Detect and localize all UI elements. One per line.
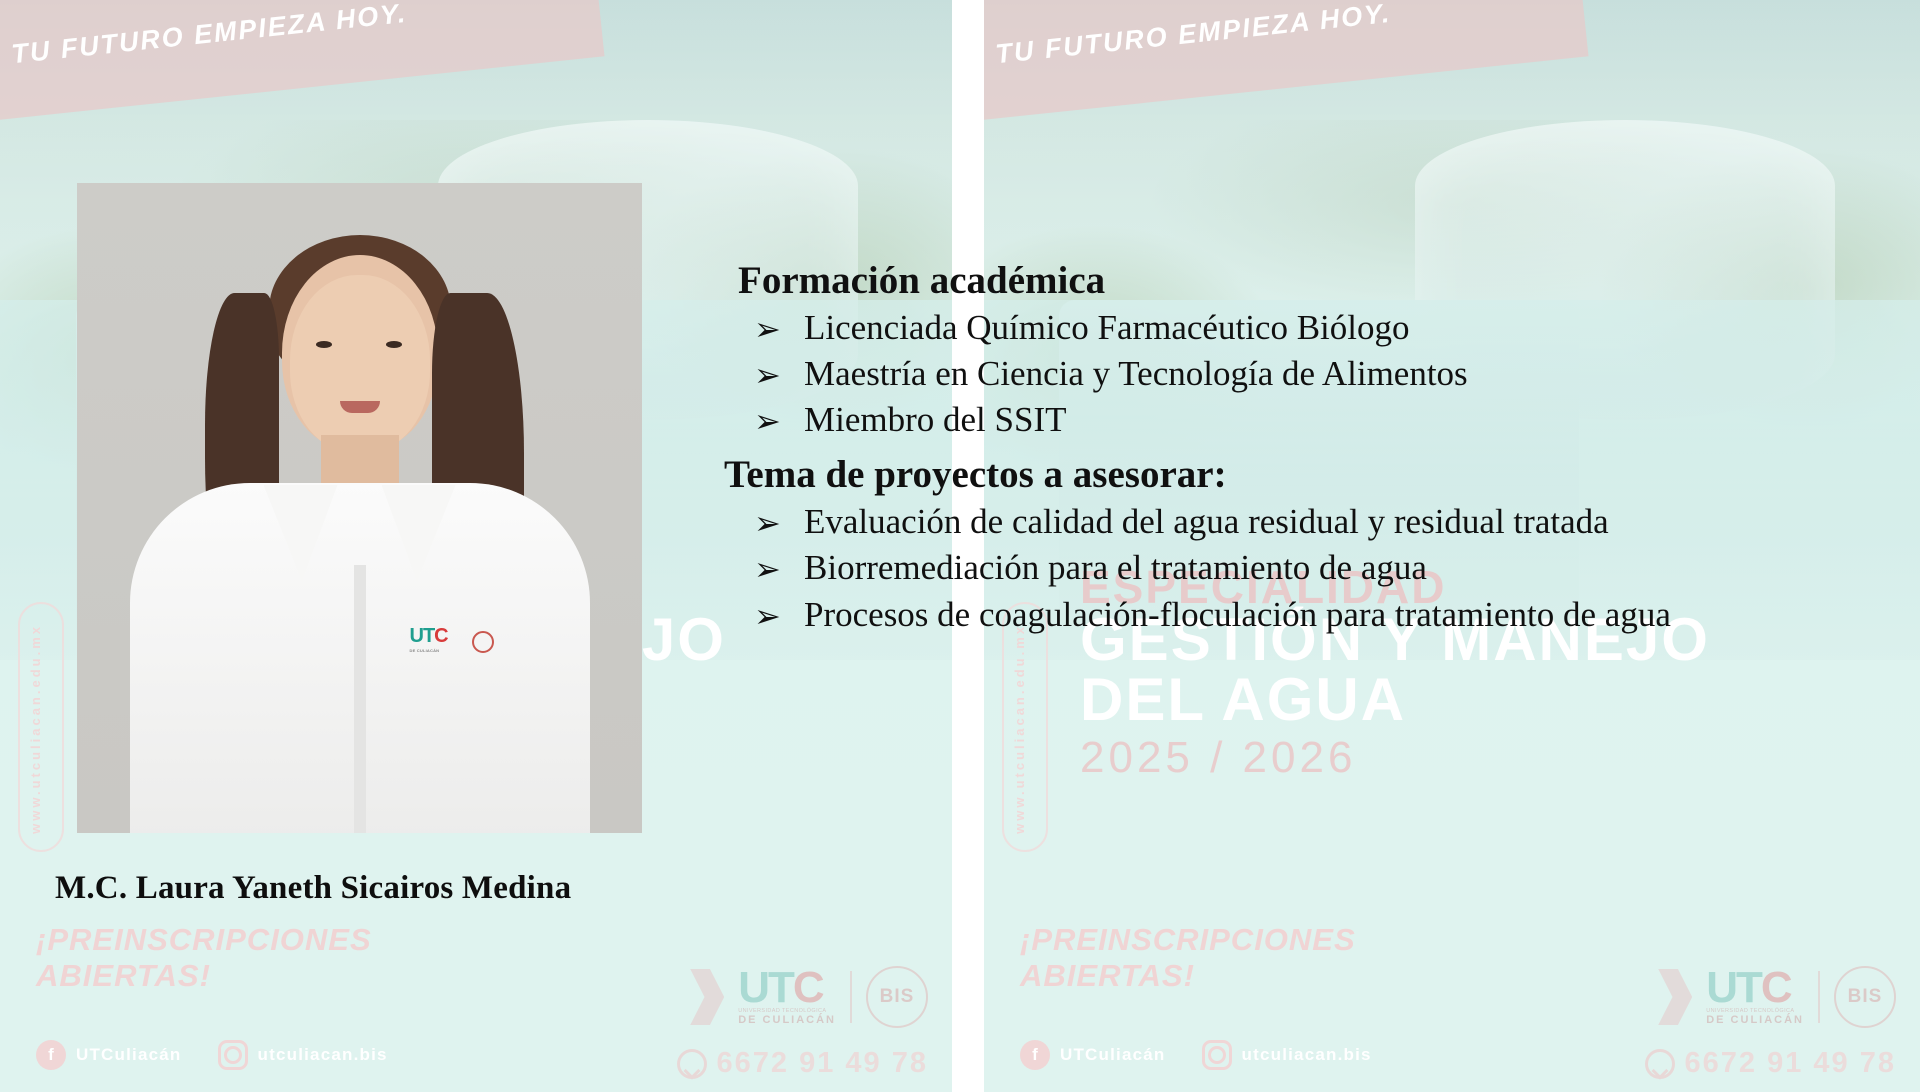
facebook-link-right[interactable]: f UTCuliacán xyxy=(1020,1040,1166,1070)
utc-subtitle: DE CULIACÁN xyxy=(738,1014,836,1026)
screenshot-stage: TU FUTURO EMPIEZA HOY. www.utculiacan.ed… xyxy=(0,0,1920,1092)
whatsapp-icon xyxy=(677,1049,707,1079)
utc-letter-c-right: C xyxy=(1761,963,1791,1012)
headline-line1-right: GESTIÓN Y MANEJO xyxy=(1080,610,1710,670)
poster-footer: ¡PREINSCRIPCIONES ABIERTAS! f UTCuliacán… xyxy=(0,912,952,1092)
utc-logo-cluster: UTC UNIVERSIDAD TECNOLÓGICA DE CULIACÁN … xyxy=(690,966,928,1028)
whatsapp-icon-right xyxy=(1645,1049,1675,1079)
utc-letters-right: UTC xyxy=(1706,968,1804,1008)
utc-letter-u-right: U xyxy=(1706,963,1736,1012)
facebook-handle: UTCuliacán xyxy=(76,1045,182,1065)
promo-line-1-right: ¡PREINSCRIPCIONES xyxy=(1020,922,1356,958)
instagram-link[interactable]: utculiacan.bis xyxy=(218,1040,388,1070)
poster-right: TU FUTURO EMPIEZA HOY. www.utculiacan.ed… xyxy=(984,0,1920,1092)
instagram-link-right[interactable]: utculiacan.bis xyxy=(1202,1040,1372,1070)
vertical-website-url-right: www.utculiacan.edu.mx xyxy=(1012,624,1027,834)
utc-wordmark: UTC UNIVERSIDAD TECNOLÓGICA DE CULIACÁN xyxy=(738,968,836,1026)
social-links-right: f UTCuliacán utculiacan.bis xyxy=(1020,1040,1372,1070)
promo-text-right: ¡PREINSCRIPCIONES ABIERTAS! xyxy=(1020,922,1356,993)
headline-line2: DEL AGUA xyxy=(96,670,726,730)
utc-wordmark-right: UTC UNIVERSIDAD TECNOLÓGICA DE CULIACÁN xyxy=(1706,968,1804,1026)
headline-years: 2025 / 2026 xyxy=(96,736,726,780)
logo-divider-right xyxy=(1818,971,1820,1023)
promo-line-2: ABIERTAS! xyxy=(36,958,372,994)
utc-letter-c: C xyxy=(793,963,823,1012)
facebook-link[interactable]: f UTCuliacán xyxy=(36,1040,182,1070)
poster-headline-right: ESPECIALIDAD GESTIÓN Y MANEJO DEL AGUA 2… xyxy=(1080,564,1710,780)
poster-left: TU FUTURO EMPIEZA HOY. www.utculiacan.ed… xyxy=(0,0,952,1092)
whatsapp-contact-right[interactable]: 6672 91 49 78 xyxy=(1645,1047,1896,1080)
promo-text: ¡PREINSCRIPCIONES ABIERTAS! xyxy=(36,922,372,993)
poster-headline: ESPECIALIDAD GESTIÓN Y MANEJO DEL AGUA 2… xyxy=(96,564,726,780)
utc-tagline-right: UNIVERSIDAD TECNOLÓGICA xyxy=(1706,1008,1804,1014)
headline-kicker: ESPECIALIDAD xyxy=(96,564,726,610)
whatsapp-contact[interactable]: 6672 91 49 78 xyxy=(677,1047,928,1080)
bis-label-right: BIS xyxy=(1848,986,1883,1008)
social-links: f UTCuliacán utculiacan.bis xyxy=(36,1040,388,1070)
utc-letter-t: T xyxy=(768,963,793,1012)
utc-letter-u: U xyxy=(738,963,768,1012)
poster-gutter xyxy=(952,0,984,1092)
facebook-icon-right: f xyxy=(1020,1040,1050,1070)
phone-number: 6672 91 49 78 xyxy=(717,1047,928,1080)
facebook-handle-right: UTCuliacán xyxy=(1060,1045,1166,1065)
headline-kicker-right: ESPECIALIDAD xyxy=(1080,564,1710,610)
utc-tagline: UNIVERSIDAD TECNOLÓGICA xyxy=(738,1008,836,1014)
instagram-handle: utculiacan.bis xyxy=(258,1045,388,1065)
headline-years-right: 2025 / 2026 xyxy=(1080,736,1710,780)
instagram-icon-right xyxy=(1202,1040,1232,1070)
headline-line1: GESTIÓN Y MANEJO xyxy=(96,610,726,670)
utc-subtitle-right: DE CULIACÁN xyxy=(1706,1014,1804,1026)
bis-seal-icon-right: BIS xyxy=(1834,966,1896,1028)
logo-divider xyxy=(850,971,852,1023)
bis-seal-icon: BIS xyxy=(866,966,928,1028)
utc-logo-cluster-right: UTC UNIVERSIDAD TECNOLÓGICA DE CULIACÁN … xyxy=(1658,966,1896,1028)
instagram-icon xyxy=(218,1040,248,1070)
facebook-icon: f xyxy=(36,1040,66,1070)
utc-letters: UTC xyxy=(738,968,836,1008)
utc-letter-t-right: T xyxy=(1736,963,1761,1012)
vertical-website-url: www.utculiacan.edu.mx xyxy=(28,624,43,834)
phone-number-right: 6672 91 49 78 xyxy=(1685,1047,1896,1080)
headline-line2-right: DEL AGUA xyxy=(1080,670,1710,730)
chevron-right-icon xyxy=(690,969,724,1025)
promo-line-1: ¡PREINSCRIPCIONES xyxy=(36,922,372,958)
bis-label: BIS xyxy=(880,986,915,1008)
poster-footer-right: ¡PREINSCRIPCIONES ABIERTAS! f UTCuliacán… xyxy=(984,912,1920,1092)
promo-line-2-right: ABIERTAS! xyxy=(1020,958,1356,994)
chevron-right-icon-right xyxy=(1658,969,1692,1025)
instagram-handle-right: utculiacan.bis xyxy=(1242,1045,1372,1065)
